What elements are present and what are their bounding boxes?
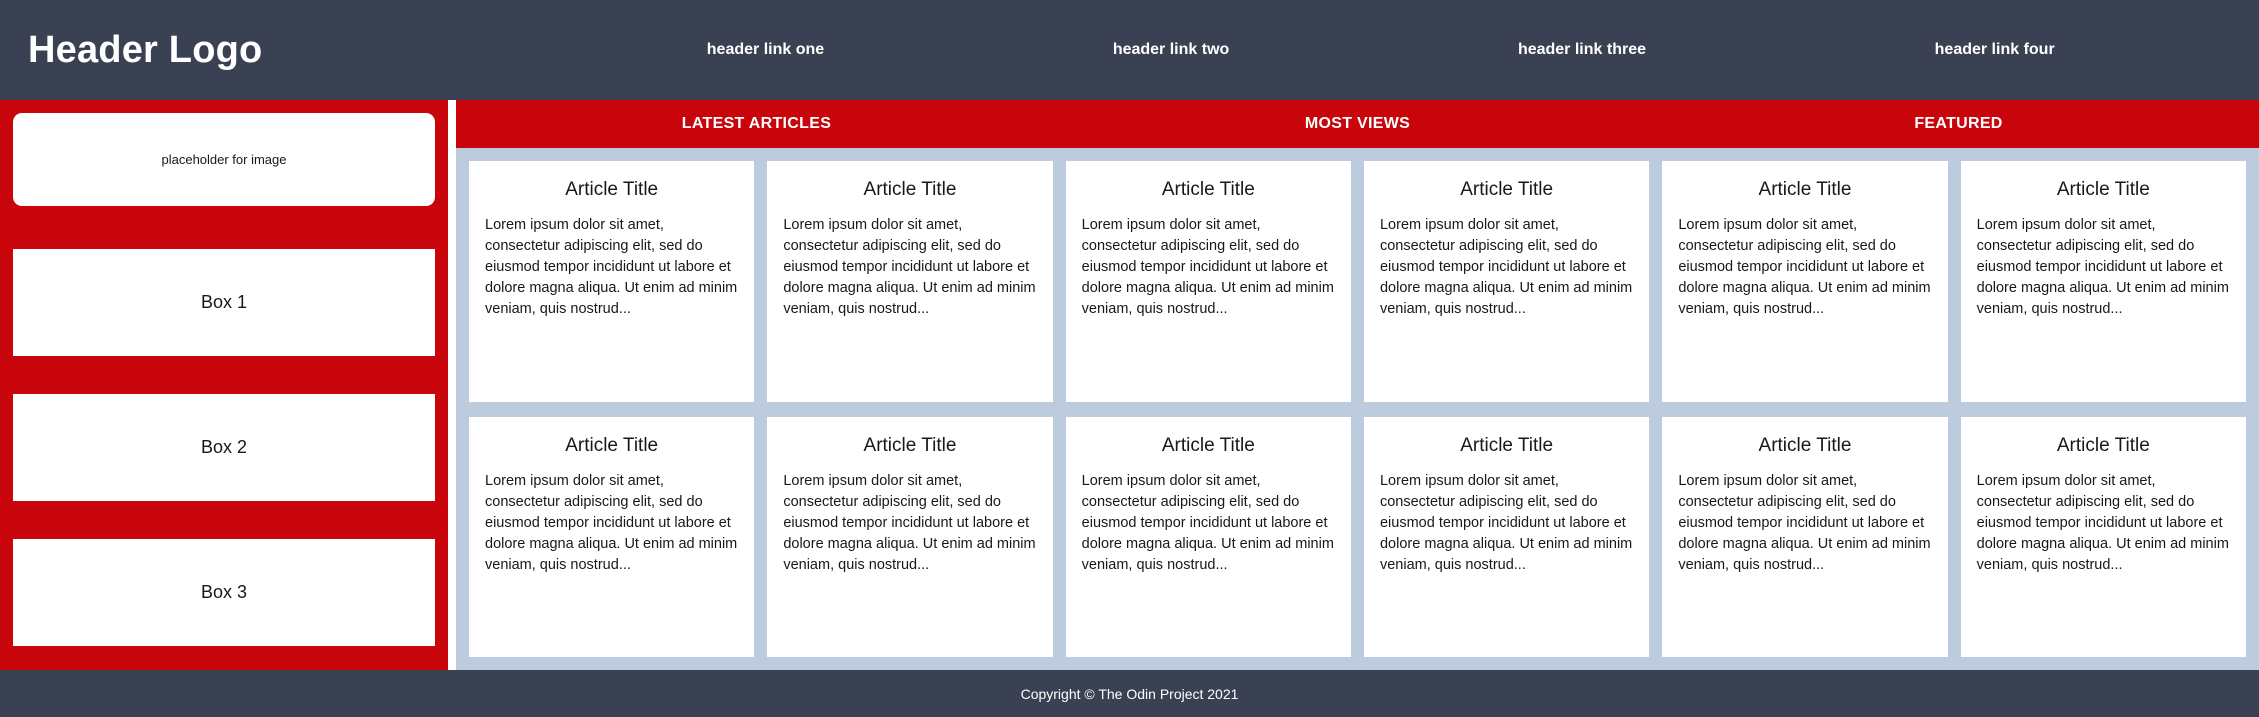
sidebar-box-1[interactable]: Box 1 bbox=[13, 249, 435, 356]
article-title: Article Title bbox=[783, 179, 1036, 201]
article-card[interactable]: Article Title Lorem ipsum dolor sit amet… bbox=[1961, 417, 2246, 658]
tab-latest-articles[interactable]: LATEST ARTICLES bbox=[456, 115, 1057, 133]
header-link-one[interactable]: header link one bbox=[707, 41, 824, 59]
article-card[interactable]: Article Title Lorem ipsum dolor sit amet… bbox=[767, 417, 1052, 658]
page-root: Header Logo header link one header link … bbox=[0, 0, 2259, 717]
header-link-three[interactable]: header link three bbox=[1518, 41, 1646, 59]
article-card[interactable]: Article Title Lorem ipsum dolor sit amet… bbox=[1364, 161, 1649, 402]
article-body: Lorem ipsum dolor sit amet, consectetur … bbox=[783, 215, 1036, 320]
copyright-text: Copyright © The Odin Project 2021 bbox=[1021, 686, 1239, 702]
sidebar-box-2-label: Box 2 bbox=[201, 437, 247, 458]
article-title: Article Title bbox=[1380, 179, 1633, 201]
article-title: Article Title bbox=[1977, 179, 2230, 201]
header-logo[interactable]: Header Logo bbox=[28, 29, 262, 72]
article-body: Lorem ipsum dolor sit amet, consectetur … bbox=[1977, 471, 2230, 576]
article-body: Lorem ipsum dolor sit amet, consectetur … bbox=[1678, 215, 1931, 320]
article-body: Lorem ipsum dolor sit amet, consectetur … bbox=[1082, 215, 1335, 320]
article-card[interactable]: Article Title Lorem ipsum dolor sit amet… bbox=[1066, 417, 1351, 658]
header-link-four[interactable]: header link four bbox=[1935, 41, 2055, 59]
sidebar-box-3[interactable]: Box 3 bbox=[13, 539, 435, 646]
article-card[interactable]: Article Title Lorem ipsum dolor sit amet… bbox=[1961, 161, 2246, 402]
card-row: Article Title Lorem ipsum dolor sit amet… bbox=[469, 161, 2246, 402]
article-title: Article Title bbox=[1678, 179, 1931, 201]
article-title: Article Title bbox=[783, 435, 1036, 457]
article-body: Lorem ipsum dolor sit amet, consectetur … bbox=[485, 215, 738, 320]
article-title: Article Title bbox=[1082, 435, 1335, 457]
article-title: Article Title bbox=[1082, 179, 1335, 201]
article-card[interactable]: Article Title Lorem ipsum dolor sit amet… bbox=[469, 417, 754, 658]
sidebar: placeholder for image Box 1 Box 2 Box 3 bbox=[0, 100, 448, 670]
body-area: placeholder for image Box 1 Box 2 Box 3 … bbox=[0, 100, 2259, 670]
sidebar-box-2[interactable]: Box 2 bbox=[13, 394, 435, 501]
card-row: Article Title Lorem ipsum dolor sit amet… bbox=[469, 417, 2246, 658]
article-title: Article Title bbox=[1380, 435, 1633, 457]
section-tabs: LATEST ARTICLES MOST VIEWS FEATURED bbox=[456, 100, 2259, 148]
tab-featured[interactable]: FEATURED bbox=[1658, 115, 2259, 133]
main-content: LATEST ARTICLES MOST VIEWS FEATURED Arti… bbox=[456, 100, 2259, 670]
article-cards-panel: Article Title Lorem ipsum dolor sit amet… bbox=[456, 148, 2259, 670]
sidebar-box-1-label: Box 1 bbox=[201, 292, 247, 313]
header-nav: header link one header link two header l… bbox=[562, 41, 2199, 59]
header-link-two[interactable]: header link two bbox=[1113, 41, 1229, 59]
article-body: Lorem ipsum dolor sit amet, consectetur … bbox=[1380, 215, 1633, 320]
article-card[interactable]: Article Title Lorem ipsum dolor sit amet… bbox=[1662, 417, 1947, 658]
sidebar-image-placeholder-label: placeholder for image bbox=[161, 152, 286, 167]
article-body: Lorem ipsum dolor sit amet, consectetur … bbox=[485, 471, 738, 576]
article-title: Article Title bbox=[485, 435, 738, 457]
sidebar-box-3-label: Box 3 bbox=[201, 582, 247, 603]
site-header: Header Logo header link one header link … bbox=[0, 0, 2259, 100]
article-body: Lorem ipsum dolor sit amet, consectetur … bbox=[1977, 215, 2230, 320]
article-body: Lorem ipsum dolor sit amet, consectetur … bbox=[1082, 471, 1335, 576]
article-body: Lorem ipsum dolor sit amet, consectetur … bbox=[1678, 471, 1931, 576]
article-body: Lorem ipsum dolor sit amet, consectetur … bbox=[1380, 471, 1633, 576]
article-card[interactable]: Article Title Lorem ipsum dolor sit amet… bbox=[1066, 161, 1351, 402]
article-body: Lorem ipsum dolor sit amet, consectetur … bbox=[783, 471, 1036, 576]
article-title: Article Title bbox=[485, 179, 738, 201]
article-title: Article Title bbox=[1678, 435, 1931, 457]
sidebar-image-placeholder[interactable]: placeholder for image bbox=[13, 113, 435, 206]
tab-most-views[interactable]: MOST VIEWS bbox=[1057, 115, 1658, 133]
article-card[interactable]: Article Title Lorem ipsum dolor sit amet… bbox=[1364, 417, 1649, 658]
site-footer: Copyright © The Odin Project 2021 bbox=[0, 670, 2259, 717]
article-title: Article Title bbox=[1977, 435, 2230, 457]
article-card[interactable]: Article Title Lorem ipsum dolor sit amet… bbox=[469, 161, 754, 402]
article-card[interactable]: Article Title Lorem ipsum dolor sit amet… bbox=[1662, 161, 1947, 402]
article-card[interactable]: Article Title Lorem ipsum dolor sit amet… bbox=[767, 161, 1052, 402]
